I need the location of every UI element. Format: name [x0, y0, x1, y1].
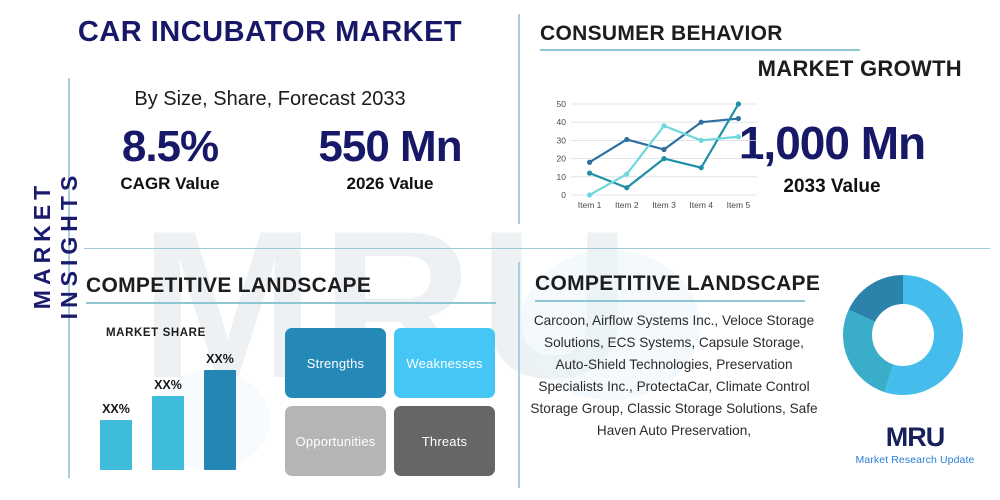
kpi-2026: 550 Mn 2026 Value: [280, 124, 500, 194]
svg-text:10: 10: [557, 172, 567, 182]
kpi-2026-value: 550 Mn: [280, 124, 500, 170]
mru-logo-tagline: Market Research Update: [845, 454, 985, 466]
competitive-landscape-left-heading: COMPETITIVE LANDSCAPE: [86, 274, 371, 298]
company-list: Carcoon, Airflow Systems Inc., Veloce St…: [528, 310, 820, 442]
competitive-landscape-right-underline: [535, 300, 805, 302]
bar-value-label: XX%: [194, 352, 246, 366]
svg-text:Item 2: Item 2: [615, 200, 639, 210]
page-subtitle: By Size, Share, Forecast 2033: [60, 88, 480, 111]
svg-text:Item 3: Item 3: [652, 200, 676, 210]
bar-rect: [204, 370, 236, 470]
center-column-divider: [518, 14, 520, 224]
svg-text:40: 40: [557, 117, 567, 127]
swot-matrix: StrengthsWeaknessesOpportunitiesThreats: [285, 328, 495, 476]
market-share-title: MARKET SHARE: [106, 327, 206, 339]
svg-text:50: 50: [557, 99, 567, 109]
kpi-cagr-value: 8.5%: [60, 124, 280, 170]
center-column-divider-lower: [518, 262, 520, 488]
svg-text:Item 5: Item 5: [727, 200, 751, 210]
svg-text:20: 20: [557, 154, 567, 164]
mru-logo: MRU Market Research Update: [845, 424, 985, 466]
bar-column: XX%: [152, 396, 184, 470]
consumer-behavior-line-chart: 01020304050 Item 1Item 2Item 3Item 4Item…: [545, 98, 760, 220]
swot-box-opportunities[interactable]: Opportunities: [285, 406, 386, 476]
market-share-bar-chart: XX%XX%XX%: [100, 340, 260, 470]
swot-box-weaknesses[interactable]: Weaknesses: [394, 328, 495, 398]
infographic-canvas: MRU MARKET INSIGHTS CAR INCUBATOR MARKET…: [0, 0, 1000, 500]
bar-rect: [152, 396, 184, 470]
kpi-cagr-label: CAGR Value: [60, 174, 280, 194]
market-growth-heading: MARKET GROWTH: [758, 56, 962, 82]
swot-box-threats[interactable]: Threats: [394, 406, 495, 476]
market-segment-donut-chart: [840, 272, 966, 398]
page-title: CAR INCUBATOR MARKET: [60, 16, 480, 49]
svg-text:0: 0: [561, 190, 566, 200]
kpi-row: 8.5% CAGR Value 550 Mn 2026 Value: [60, 124, 500, 194]
kpi-2026-label: 2026 Value: [280, 174, 500, 194]
svg-text:30: 30: [557, 135, 567, 145]
bar-column: XX%: [100, 420, 132, 470]
consumer-behavior-heading: CONSUMER BEHAVIOR: [540, 22, 783, 46]
svg-text:Item 4: Item 4: [689, 200, 713, 210]
svg-text:Item 1: Item 1: [578, 200, 602, 210]
mru-logo-mark: MRU: [886, 422, 945, 452]
bar-rect: [100, 420, 132, 470]
bar-column: XX%: [204, 370, 236, 470]
consumer-behavior-underline: [540, 49, 860, 51]
competitive-landscape-left-underline: [86, 302, 496, 304]
mru-logo-text: MRU: [845, 424, 985, 451]
swot-box-strengths[interactable]: Strengths: [285, 328, 386, 398]
section-divider: [84, 248, 990, 249]
donut-segment: [843, 309, 893, 392]
competitive-landscape-right-heading: COMPETITIVE LANDSCAPE: [535, 272, 820, 296]
bar-value-label: XX%: [142, 378, 194, 392]
bar-value-label: XX%: [90, 402, 142, 416]
kpi-cagr: 8.5% CAGR Value: [60, 124, 280, 194]
